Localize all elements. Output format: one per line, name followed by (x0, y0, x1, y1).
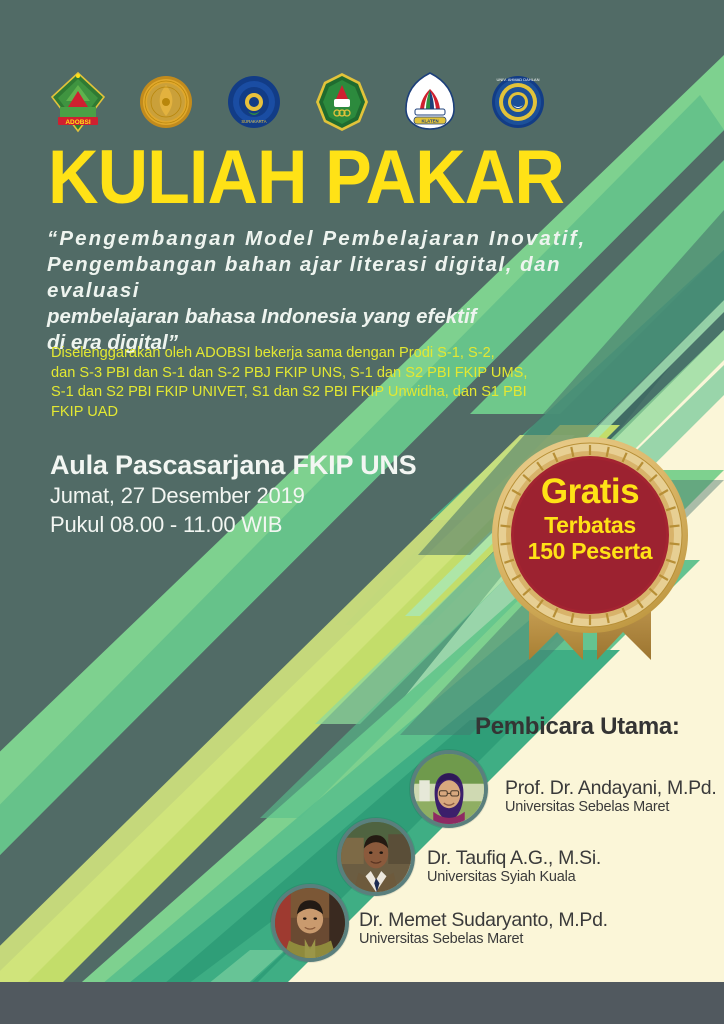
speaker-text: Dr. Memet Sudaryanto, M.Pd. Universitas … (359, 910, 608, 947)
svg-text:ADOBSI: ADOBSI (65, 119, 90, 126)
speaker-affiliation: Universitas Sebelas Maret (359, 931, 608, 947)
speaker-photo-taufiq (341, 822, 411, 892)
speaker-name: Dr. Taufiq A.G., M.Si. (427, 848, 601, 869)
footer-bar (0, 982, 724, 1024)
speaker-text: Prof. Dr. Andayani, M.Pd. Universitas Se… (505, 778, 716, 815)
logo-unwidha: KLATEN (402, 71, 458, 133)
speaker-item: Dr. Memet Sudaryanto, M.Pd. Universitas … (271, 884, 349, 962)
speaker-photo-andayani (414, 754, 484, 824)
venue-date: Jumat, 27 Desember 2019 (50, 481, 416, 510)
event-subtitle: “Pengembangan Model Pembelajaran Inovati… (47, 226, 647, 356)
organizer-block: Diselenggarakan oleh ADOBSI bekerja sama… (51, 344, 571, 422)
subtitle-line-3: pembelajaran bahasa Indonesia yang efekt… (47, 304, 647, 330)
logo-univet (314, 71, 370, 133)
speaker-affiliation: Universitas Sebelas Maret (505, 799, 716, 815)
status-badge: Gratis Terbatas 150 Peserta (487, 432, 693, 664)
speaker-item: Prof. Dr. Andayani, M.Pd. Universitas Se… (410, 750, 488, 828)
logo-uad: UNIV. AHMAD DAHLAN (490, 71, 546, 133)
subtitle-line-2: Pengembangan bahan ajar literasi digital… (47, 252, 647, 304)
speaker-name: Prof. Dr. Andayani, M.Pd. (505, 778, 716, 799)
venue-time: Pukul 08.00 - 11.00 WIB (50, 510, 416, 539)
logo-ums: SURAKARTA (226, 71, 282, 133)
speaker-photo-memet (275, 888, 345, 958)
speakers-heading: Pembicara Utama: (475, 713, 680, 741)
organizer-line-4: FKIP UAD (51, 403, 571, 423)
venue-place: Aula Pascasarjana FKIP UNS (50, 449, 416, 481)
organizer-line-1: Diselenggarakan oleh ADOBSI bekerja sama… (51, 344, 571, 364)
page-title: KULIAH PAKAR (48, 139, 564, 217)
organizer-line-2: dan S-3 PBI dan S-1 dan S-2 PBJ FKIP UNS… (51, 364, 571, 384)
speaker-text: Dr. Taufiq A.G., M.Si. Universitas Syiah… (427, 848, 601, 885)
logo-uns (138, 71, 194, 133)
logo-adobsi: ADOBSI (50, 71, 106, 133)
organizer-line-3: S-1 dan S2 PBI FKIP UNIVET, S1 dan S2 PB… (51, 383, 571, 403)
partner-logos: ADOBSI (50, 68, 550, 136)
avatar (271, 884, 349, 962)
svg-text:SURAKARTA: SURAKARTA (241, 119, 266, 124)
subtitle-line-1: “Pengembangan Model Pembelajaran Inovati… (47, 226, 647, 252)
venue-block: Aula Pascasarjana FKIP UNS Jumat, 27 Des… (50, 449, 416, 539)
poster-root: ADOBSI (0, 0, 724, 1024)
svg-text:KLATEN: KLATEN (421, 119, 438, 124)
speaker-name: Dr. Memet Sudaryanto, M.Pd. (359, 910, 608, 931)
speaker-affiliation: Universitas Syiah Kuala (427, 869, 601, 885)
avatar (410, 750, 488, 828)
svg-text:UNIV. AHMAD DAHLAN: UNIV. AHMAD DAHLAN (497, 77, 540, 82)
